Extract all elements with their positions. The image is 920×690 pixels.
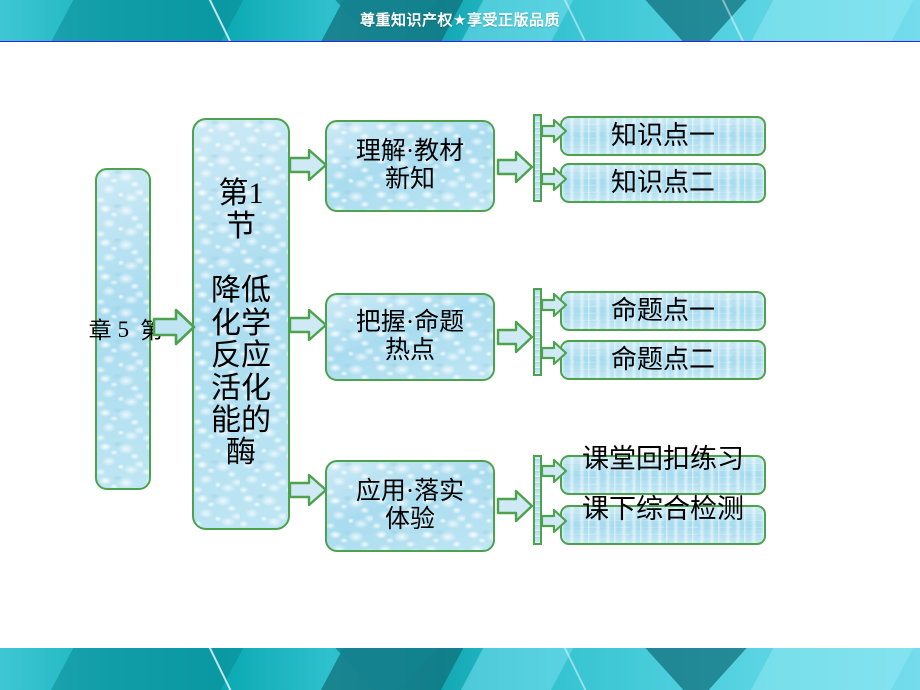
arrow-chapter-to-section — [152, 305, 196, 349]
arrow-branch-1-leaf-1 — [541, 118, 567, 144]
arrow-branch-2-leaf-1 — [541, 292, 567, 318]
bottom-banner-chevron-4 — [731, 648, 920, 690]
bottom-banner-wedge-2 — [640, 648, 752, 690]
bottom-banner-wedge-1 — [330, 648, 442, 690]
leaf-box-knowledge-point-two[interactable]: 知识点二 — [560, 163, 766, 203]
banner-underline-rule — [0, 41, 920, 42]
bottom-banner-chevron-1 — [31, 648, 259, 690]
arrow-branch-3-leaf-2 — [541, 508, 567, 534]
stage-label-1: 理解·教材 新知 — [352, 138, 468, 194]
arrow-stage-1-to-branch — [496, 148, 534, 186]
arrow-section-to-stage-3 — [288, 470, 328, 510]
arrow-stage-2-to-branch — [496, 318, 534, 356]
arrow-branch-2-leaf-2 — [541, 340, 567, 366]
arrow-stage-3-to-branch — [496, 487, 534, 525]
section-label: 第1 节 降低 化学 反应 活化 能的 酶 — [207, 178, 275, 470]
top-banner: 尊重知识产权★享受正版品质 — [0, 0, 920, 42]
banner-title: 尊重知识产权★享受正版品质 — [0, 0, 920, 42]
stage-box-3[interactable]: 应用·落实 体验 — [325, 460, 495, 552]
arrow-branch-1-leaf-2 — [541, 166, 567, 192]
stage-box-1[interactable]: 理解·教材 新知 — [325, 120, 495, 212]
arrow-section-to-stage-2 — [288, 305, 328, 345]
stage-box-2[interactable]: 把握·命题 热点 — [325, 293, 495, 381]
leaf-label-exam-point-one: 命题点一 — [607, 296, 719, 325]
stage-label-3: 应用·落实 体验 — [352, 478, 468, 534]
leaf-box-knowledge-point-one[interactable]: 知识点一 — [560, 116, 766, 156]
leaf-box-exam-point-one[interactable]: 命题点一 — [560, 291, 766, 331]
section-box[interactable]: 第1 节 降低 化学 反应 活化 能的 酶 — [192, 118, 290, 530]
chapter-box[interactable]: 第 5 章 — [95, 168, 151, 490]
arrow-section-to-stage-1 — [288, 145, 328, 185]
leaf-label-knowledge-point-two: 知识点二 — [607, 168, 719, 197]
arrow-branch-3-leaf-1 — [541, 458, 567, 484]
leaf-box-after-class-test[interactable] — [560, 505, 766, 545]
leaf-box-in-class-practice[interactable] — [560, 455, 766, 495]
leaf-label-exam-point-two: 命题点二 — [607, 345, 719, 374]
leaf-box-exam-point-two[interactable]: 命题点二 — [560, 340, 766, 380]
leaf-label-knowledge-point-one: 知识点一 — [607, 121, 719, 150]
bottom-banner — [0, 648, 920, 690]
slide-canvas: 尊重知识产权★享受正版品质 第 5 章 第1 节 降低 化学 反应 活化 能的 … — [0, 0, 920, 690]
stage-label-2: 把握·命题 热点 — [352, 309, 468, 365]
